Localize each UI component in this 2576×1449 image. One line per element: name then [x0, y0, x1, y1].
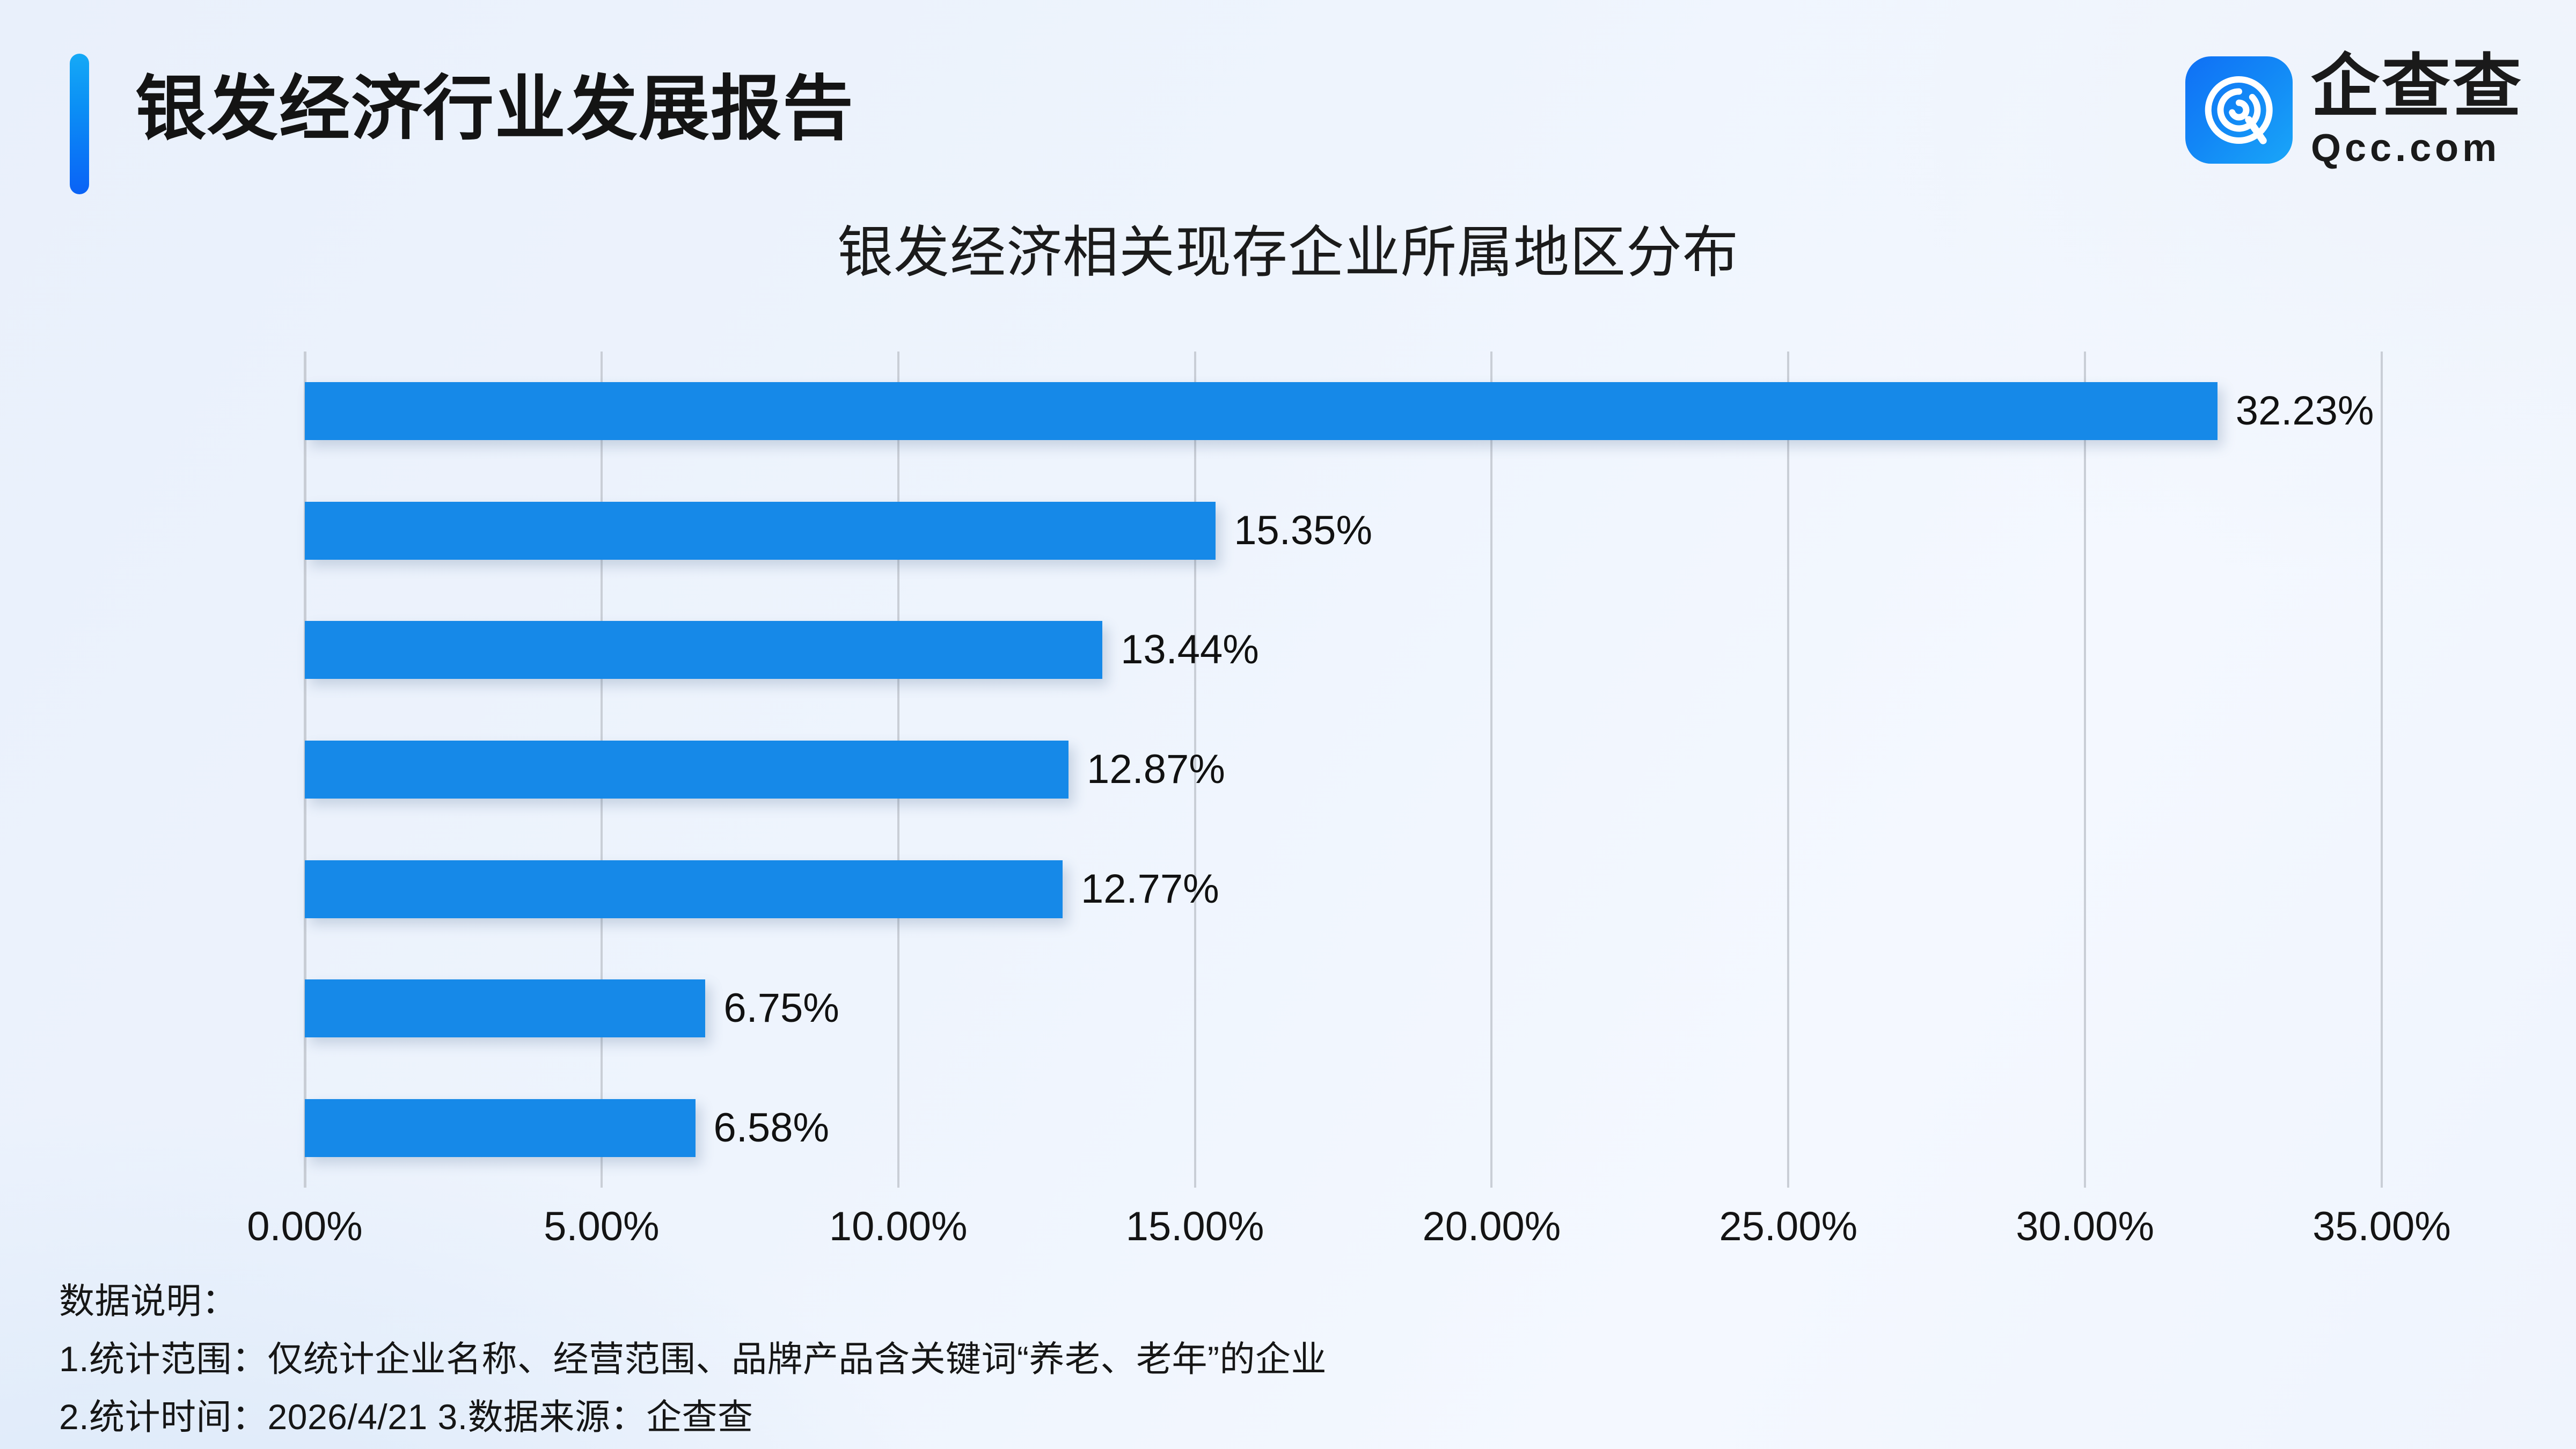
qcc-spiral-q-logo-icon — [2185, 56, 2293, 164]
gridline — [1787, 352, 1789, 1188]
bar — [305, 502, 1216, 560]
x-axis-tick-label: 25.00% — [1719, 1203, 1857, 1250]
chart-title: 银发经济相关现存企业所属地区分布 — [0, 207, 2576, 288]
x-axis-tick-label: 30.00% — [2016, 1203, 2154, 1250]
bar-value-label: 12.77% — [1081, 860, 1219, 918]
bar — [305, 621, 1102, 679]
x-axis-tick-labels: 0.00%5.00%10.00%15.00%20.00%25.00%30.00%… — [305, 1203, 2382, 1262]
gridline — [2084, 352, 2086, 1188]
data-notes-heading: 数据说明： — [59, 1272, 2474, 1330]
brand-logo: 企查查 Qcc.com — [2185, 54, 2523, 166]
x-axis-tick-label: 35.00% — [2312, 1203, 2451, 1250]
data-notes-line-1: 1.统计范围：仅统计企业名称、经营范围、品牌产品含关键词“养老、老年”的企业 — [59, 1330, 2474, 1388]
bar — [305, 1099, 696, 1157]
bar-value-label: 6.75% — [723, 979, 839, 1037]
bar — [305, 741, 1069, 799]
page-title: 银发经济行业发展报告 — [135, 63, 854, 155]
x-axis-tick-label: 15.00% — [1126, 1203, 1264, 1250]
brand-name: 企查查 — [2311, 53, 2523, 121]
bar-value-label: 15.35% — [1234, 502, 1372, 560]
bar — [305, 382, 2218, 440]
data-notes: 数据说明： 1.统计范围：仅统计企业名称、经营范围、品牌产品含关键词“养老、老年… — [59, 1272, 2474, 1446]
bar-chart-plot-area: 华东地区32.23%西南地区15.35%华南地区13.44%华中地区12.87%… — [305, 352, 2382, 1188]
gridline — [1490, 352, 1492, 1188]
report-header: 银发经济行业发展报告 企查查 Qcc.com — [0, 0, 2576, 193]
title-accent-bar — [70, 54, 89, 194]
gridline — [2381, 352, 2383, 1188]
x-axis-tick-label: 20.00% — [1423, 1203, 1561, 1250]
bar-value-label: 6.58% — [714, 1099, 830, 1157]
bar-value-label: 32.23% — [2236, 382, 2374, 440]
brand-domain: Qcc.com — [2311, 129, 2523, 167]
data-notes-line-2: 2.统计时间：2026/4/21 3.数据来源：企查查 — [59, 1388, 2474, 1446]
brand-logo-wordmark: 企查查 Qcc.com — [2311, 53, 2523, 167]
x-axis-tick-label: 5.00% — [544, 1203, 660, 1250]
x-axis-tick-label: 0.00% — [247, 1203, 363, 1250]
report-page: 银发经济行业发展报告 企查查 Qcc.com 银发经济相关现存企业所属地区分布 … — [0, 0, 2576, 1449]
bar-value-label: 13.44% — [1121, 621, 1259, 679]
x-axis-tick-label: 10.00% — [829, 1203, 968, 1250]
bar — [305, 860, 1063, 918]
bar-value-label: 12.87% — [1087, 741, 1225, 799]
bar — [305, 979, 705, 1037]
